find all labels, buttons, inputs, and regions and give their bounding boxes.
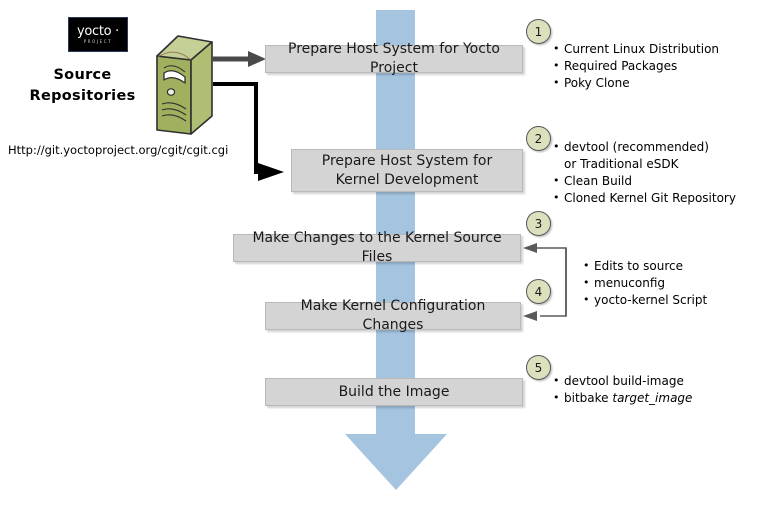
note-item: devtool build-image (552, 373, 692, 390)
process-box-step-3[interactable]: Make Changes to the Kernel Source Files (233, 234, 521, 262)
process-box-step-4[interactable]: Make Kernel Configuration Changes (265, 302, 521, 330)
step-2-notes: devtool (recommended) or Traditional eSD… (552, 139, 736, 207)
note-item: Edits to source (582, 258, 707, 275)
source-label-line2: Repositories (20, 86, 145, 107)
steps-3-4-shared-notes: Edits to source menuconfig yocto-kernel … (582, 258, 707, 309)
repository-url-text: Http://git.yoctoproject.org/cgit/cgit.cg… (8, 143, 228, 157)
note-item: devtool (recommended) or Traditional eSD… (552, 139, 714, 173)
step-number-3: 3 (526, 211, 551, 236)
yocto-project-logo: yocto · PROJECT (68, 17, 128, 52)
note-item: Required Packages (552, 58, 719, 75)
step-number-5: 5 (526, 355, 551, 380)
step-number-label: 4 (535, 285, 543, 299)
process-box-step-2[interactable]: Prepare Host System for Kernel Developme… (291, 149, 523, 192)
note-item: bitbake target_image (552, 390, 692, 407)
process-box-label: Prepare Host System for Yocto Project (272, 40, 516, 78)
note-item: Current Linux Distribution (552, 41, 719, 58)
note-item: Clean Build (552, 173, 736, 190)
step-number-label: 1 (535, 25, 543, 39)
process-box-step-5[interactable]: Build the Image (265, 378, 523, 406)
step-number-4: 4 (526, 279, 551, 304)
note-item: Cloned Kernel Git Repository (552, 190, 736, 207)
process-box-label: Build the Image (339, 383, 450, 402)
diagram-canvas: yocto · PROJECT Source Repositories Http… (0, 0, 769, 517)
source-label-line1: Source (20, 65, 145, 86)
process-box-label: Make Kernel Configuration Changes (272, 297, 514, 335)
step-number-label: 5 (535, 361, 543, 375)
step-5-notes: devtool build-image bitbake target_image (552, 373, 692, 407)
step-1-notes: Current Linux Distribution Required Pack… (552, 41, 719, 92)
note-item: yocto-kernel Script (582, 292, 707, 309)
step-number-1: 1 (526, 19, 551, 44)
process-box-label: Prepare Host System for Kernel Developme… (298, 152, 516, 190)
process-box-step-1[interactable]: Prepare Host System for Yocto Project (265, 45, 523, 73)
source-repositories-label: Source Repositories (20, 65, 145, 107)
logo-subtext: PROJECT (84, 39, 112, 45)
note-command-prefix: bitbake (564, 391, 612, 405)
note-item: menuconfig (582, 275, 707, 292)
logo-wordmark: yocto · (77, 25, 119, 38)
note-item: Poky Clone (552, 75, 719, 92)
server-tower-icon (133, 30, 215, 135)
note-command-arg: target_image (612, 391, 692, 405)
step-number-label: 3 (535, 217, 543, 231)
step-number-label: 2 (535, 132, 543, 146)
process-box-label: Make Changes to the Kernel Source Files (240, 229, 514, 267)
flow-arrow-head (345, 434, 447, 490)
step-number-2: 2 (526, 126, 551, 151)
